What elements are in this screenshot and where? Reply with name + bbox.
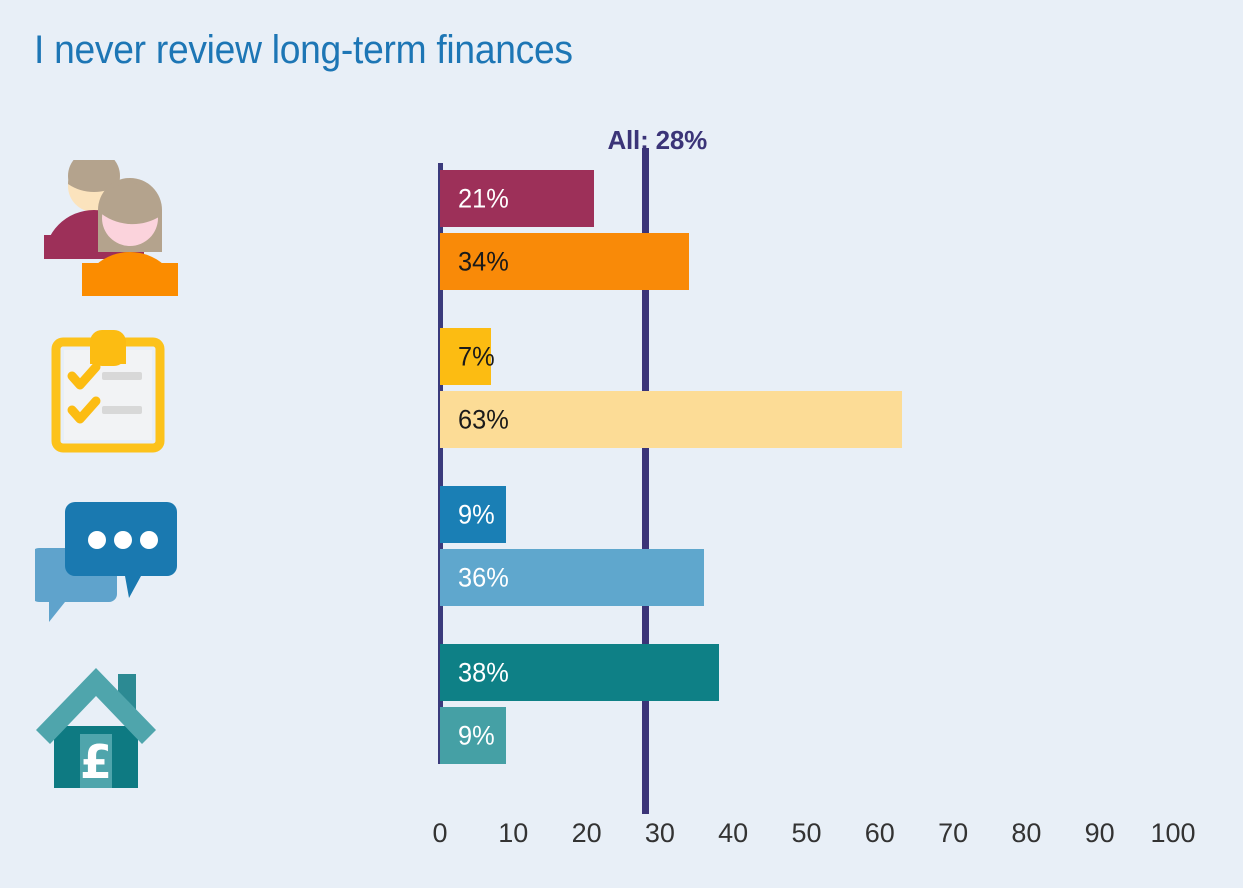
x-axis-tick: 0 [432,818,447,849]
bar: 7% [440,328,491,385]
bar-value-label: 9% [458,720,495,751]
plot-area: All: 28% Men21%Women34%Planner7%Non-plan… [0,0,1243,888]
bar-value-label: 7% [458,341,495,372]
bar: 21% [440,170,594,227]
bar-value-label: 21% [458,183,509,214]
x-axis-tick: 10 [498,818,528,849]
bar: 63% [440,391,902,448]
bar: 9% [440,707,506,764]
bar-value-label: 9% [458,499,495,530]
x-axis-tick: 80 [1011,818,1041,849]
bar: 36% [440,549,704,606]
x-axis-tick: 60 [865,818,895,849]
x-axis-tick: 30 [645,818,675,849]
x-axis-tick: 70 [938,818,968,849]
bar: 34% [440,233,689,290]
bar-value-label: 63% [458,404,509,435]
x-axis: 0102030405060708090100 [0,818,1243,868]
bar: 9% [440,486,506,543]
x-axis-tick: 100 [1150,818,1195,849]
x-axis-tick: 50 [791,818,821,849]
x-axis-tick: 20 [572,818,602,849]
x-axis-tick: 40 [718,818,748,849]
bar: 38% [440,644,719,701]
bar-value-label: 38% [458,657,509,688]
bar-value-label: 36% [458,562,509,593]
x-axis-tick: 90 [1085,818,1115,849]
reference-line-label: All: 28% [607,125,707,156]
bar-value-label: 34% [458,246,509,277]
